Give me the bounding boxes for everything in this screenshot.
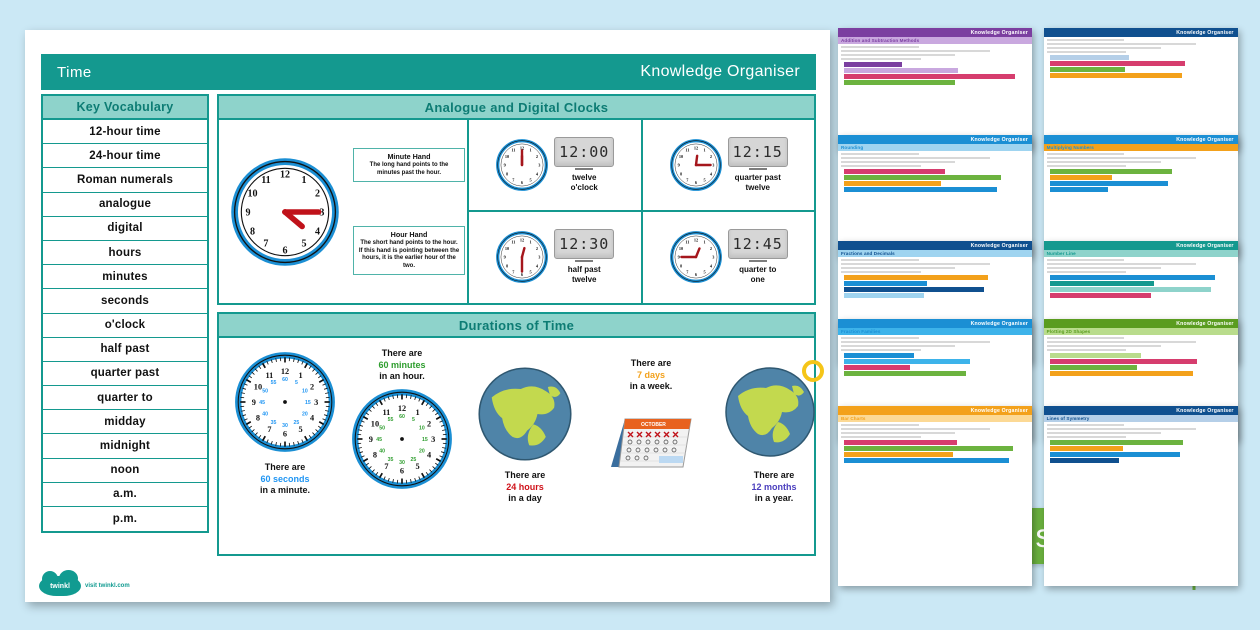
svg-text:25: 25: [294, 420, 300, 426]
digital-label-line2: o'clock: [554, 183, 614, 193]
svg-text:35: 35: [388, 457, 394, 463]
thumbnail-graphic-bar: [844, 281, 927, 286]
svg-text:11: 11: [512, 147, 516, 152]
thumbnail-header: Knowledge Organiser: [1044, 319, 1238, 328]
thumbnail-graphic-bar: [844, 353, 914, 358]
svg-text:3: 3: [431, 435, 435, 444]
svg-text:9: 9: [677, 255, 679, 260]
thumbnail-text-line: [841, 58, 921, 60]
svg-text:2: 2: [710, 246, 712, 251]
vocab-item: seconds: [43, 289, 207, 313]
svg-text:2: 2: [427, 420, 431, 429]
thumbnail-graphic-bar: [844, 359, 970, 364]
svg-text:12: 12: [694, 238, 698, 243]
twinkl-logo-text: twinkl: [50, 583, 70, 590]
twinkl-url: visit twinkl.com: [85, 583, 130, 589]
svg-text:11: 11: [261, 174, 271, 185]
thumbnail-graphic-bar: [1050, 458, 1120, 463]
vocab-item: midnight: [43, 434, 207, 458]
digital-time: 12:15: [728, 137, 788, 167]
fact-seconds-post: in a minute.: [233, 485, 337, 497]
thumbnail-subtitle: Lines of Symmetry: [1044, 415, 1238, 422]
thumbnail-graphic-bar: [1050, 353, 1141, 358]
svg-text:9: 9: [369, 435, 373, 444]
svg-text:7: 7: [267, 425, 271, 434]
thumbnail-text-line: [841, 263, 990, 265]
vocab-item: analogue: [43, 193, 207, 217]
thumbnail-text-line: [1047, 47, 1161, 49]
svg-text:20: 20: [302, 412, 308, 418]
thumbnail-text-line: [841, 50, 990, 52]
fact-hours-caption: There are 24 hours in a day: [469, 470, 581, 505]
thumbnail-graphic-bar: [844, 62, 902, 67]
fact-months-caption: There are 12 months in a year.: [715, 470, 833, 505]
svg-text:5: 5: [299, 425, 303, 434]
thumbnail-header: Knowledge Organiser: [1044, 406, 1238, 415]
thumbnail-text-line: [1047, 263, 1196, 265]
vocab-item: p.m.: [43, 507, 207, 531]
svg-text:50: 50: [379, 426, 385, 432]
thumbnail-text-line: [1047, 39, 1125, 41]
svg-text:10: 10: [254, 383, 262, 392]
svg-text:OCTOBER: OCTOBER: [641, 422, 666, 428]
clock-face-icon: 121234567891011: [669, 138, 723, 192]
thumbnail-text-line: [1047, 51, 1127, 53]
svg-text:12: 12: [280, 169, 290, 180]
thumbnail-text-line: [1047, 259, 1125, 261]
thumbnail-graphic-bar: [844, 74, 1015, 79]
svg-text:40: 40: [379, 449, 385, 455]
svg-text:60: 60: [282, 377, 288, 383]
thumbnail-graphic-bar: [1050, 67, 1126, 72]
thumbnail-subtitle: Addition and Subtraction Methods: [838, 37, 1032, 44]
thumbnail-page[interactable]: Knowledge Organiser: [1044, 28, 1238, 149]
svg-text:9: 9: [677, 162, 679, 167]
thumbnail-graphic-bar: [1050, 359, 1197, 364]
svg-text:35: 35: [271, 420, 277, 426]
thumbnail-graphic-bar: [844, 293, 924, 298]
digital-clock: 12:00twelveo'clock: [554, 137, 614, 193]
key-vocabulary-panel: Key Vocabulary 12-hour time24-hour timeR…: [41, 94, 209, 564]
vocab-item: o'clock: [43, 314, 207, 338]
thumbnail-text-line: [841, 153, 919, 155]
svg-text:6: 6: [282, 245, 287, 256]
thumbnail-text-line: [1047, 43, 1196, 45]
svg-text:4: 4: [315, 226, 320, 237]
thumbnail-text-line: [1047, 267, 1161, 269]
clock-example: 12123456789101112:45quarter toone: [641, 212, 815, 304]
fact-days-caption: There are 7 days in a week.: [591, 358, 711, 393]
analogue-digital-section: Analogue and Digital Clocks 1212 345 678…: [217, 94, 816, 305]
organiser-sheet: Time Knowledge Organiser Key Vocabulary …: [41, 54, 816, 564]
svg-text:30: 30: [282, 423, 288, 429]
thumbnail-header: Knowledge Organiser: [1044, 28, 1238, 37]
thumbnail-graphic-bar: [1050, 61, 1186, 66]
thumbnail-text-line: [841, 271, 921, 273]
fact-hours-pre: There are: [469, 470, 581, 482]
svg-text:12: 12: [398, 404, 406, 413]
thumbnail-graphic-bar: [1050, 187, 1108, 192]
thumbnail-text-line: [1047, 424, 1125, 426]
minute-hand-title: Minute Hand: [358, 152, 460, 161]
fact-months-pre: There are: [715, 470, 833, 482]
main-knowledge-organiser-page[interactable]: Time Knowledge Organiser Key Vocabulary …: [25, 30, 830, 602]
fact-minutes: There are 60 minutes in an hour. 1212345…: [347, 348, 457, 496]
calendar-icon: OCTOBER: [603, 399, 699, 471]
thumbnail-text-line: [1047, 271, 1127, 273]
svg-text:1: 1: [530, 240, 532, 245]
globe-sun-icon: [720, 358, 828, 466]
svg-text:40: 40: [262, 412, 268, 418]
digital-label-line1: quarter to: [728, 265, 788, 275]
digital-clock: 12:30half pasttwelve: [554, 229, 614, 285]
fact-seconds-pre: There are: [233, 462, 337, 474]
svg-text:11: 11: [512, 240, 516, 245]
clock-face-icon: 121234567891011: [669, 230, 723, 284]
digital-time: 12:00: [554, 137, 614, 167]
digital-clock: 12:15quarter pasttwelve: [728, 137, 788, 193]
svg-text:12: 12: [694, 145, 698, 150]
clock-seconds-icon: 121234567891011 51015202530354045505560: [233, 350, 337, 454]
fact-days: There are 7 days in a week. OCTOBER: [591, 358, 711, 471]
svg-text:5: 5: [530, 270, 532, 275]
thumbnail-graphic-bar: [844, 175, 1001, 180]
fact-seconds-value: 60 seconds: [233, 474, 337, 486]
thumbnail-subtitle: Number Line: [1044, 250, 1238, 257]
svg-text:10: 10: [505, 154, 509, 159]
thumbnail-text-line: [1047, 345, 1161, 347]
thumbnail-page[interactable]: Knowledge OrganiserBar Charts: [838, 406, 1032, 585]
digital-clock-stand: [575, 168, 593, 170]
thumbnail-text-line: [841, 428, 990, 430]
thumbnail-graphic-bar: [844, 287, 984, 292]
fact-hours: There are 24 hours in a day: [469, 362, 581, 505]
clock-face-icon: 121234567891011: [495, 138, 549, 192]
thumbnail-text-line: [1047, 436, 1127, 438]
thumbnail-text-line: [1047, 349, 1127, 351]
fact-seconds: 121234567891011 51015202530354045505560 …: [233, 350, 337, 497]
svg-text:6: 6: [400, 466, 404, 475]
svg-text:5: 5: [530, 177, 532, 182]
digital-label-line2: one: [728, 275, 788, 285]
svg-text:1: 1: [703, 240, 705, 245]
svg-text:15: 15: [305, 400, 311, 406]
svg-text:11: 11: [685, 240, 689, 245]
thumbnail-text-line: [841, 54, 955, 56]
digital-clock-stand: [575, 260, 593, 262]
clock-example: 12123456789101112:30half pasttwelve: [467, 212, 641, 304]
hour-hand-body: The short hand points to the hour. If th…: [358, 240, 460, 271]
svg-text:7: 7: [263, 238, 268, 249]
thumbnail-text-line: [1047, 153, 1125, 155]
thumbnail-page[interactable]: Knowledge OrganiserRounding: [838, 135, 1032, 256]
svg-text:2: 2: [315, 188, 320, 199]
fact-seconds-caption: There are 60 seconds in a minute.: [233, 462, 337, 497]
fact-minutes-value: 60 minutes: [347, 360, 457, 372]
thumbnail-graphic-bar: [844, 458, 1009, 463]
svg-text:25: 25: [411, 457, 417, 463]
fact-months-post: in a year.: [715, 493, 833, 505]
thumbnail-header: Knowledge Organiser: [838, 135, 1032, 144]
fact-months-value: 12 months: [715, 482, 833, 494]
thumbnail-page[interactable]: Knowledge OrganiserMultiplying Numbers: [1044, 135, 1238, 256]
page-title: Time: [57, 64, 92, 81]
svg-text:5: 5: [295, 380, 298, 386]
svg-text:2: 2: [710, 154, 712, 159]
analogue-digital-heading: Analogue and Digital Clocks: [217, 94, 816, 120]
clock-face-icon: 1212 345 678 91011: [229, 156, 341, 268]
svg-text:10: 10: [371, 420, 379, 429]
fact-months: There are 12 months in a year.: [715, 358, 833, 505]
svg-text:1: 1: [302, 174, 307, 185]
thumbnail-text-line: [1047, 432, 1161, 434]
thumbnail-graphic-bar: [844, 452, 953, 457]
thumbnail-subtitle: Rounding: [838, 144, 1032, 151]
fact-days-pre: There are: [591, 358, 711, 370]
digital-label-line1: twelve: [554, 173, 614, 183]
digital-clock-stand: [749, 260, 767, 262]
thumbnail-subtitle: Multiplying Numbers: [1044, 144, 1238, 151]
svg-text:10: 10: [302, 389, 308, 395]
vocab-item: a.m.: [43, 483, 207, 507]
svg-text:10: 10: [419, 426, 425, 432]
svg-text:20: 20: [419, 449, 425, 455]
thumbnail-graphic-bar: [844, 275, 988, 280]
thumbnail-graphic-bar: [1050, 169, 1172, 174]
svg-text:10: 10: [679, 154, 683, 159]
thumbnail-graphic-bar: [844, 371, 966, 376]
svg-text:8: 8: [250, 226, 255, 237]
digital-time: 12:30: [554, 229, 614, 259]
thumbnail-text-line: [1047, 341, 1196, 343]
thumbnail-graphic-bar: [844, 440, 957, 445]
svg-text:4: 4: [310, 414, 314, 423]
svg-text:60: 60: [399, 414, 405, 420]
hour-hand-callout: Hour Hand The short hand points to the h…: [353, 226, 465, 275]
vocab-item: 24-hour time: [43, 144, 207, 168]
thumbnail-text-line: [841, 345, 955, 347]
svg-text:10: 10: [679, 246, 683, 251]
page-topbar: Time Knowledge Organiser: [41, 54, 816, 90]
digital-clock: 12:45quarter toone: [728, 229, 788, 285]
thumbnail-text-line: [841, 259, 919, 261]
digital-label-line2: twelve: [554, 275, 614, 285]
thumbnail-text-line: [841, 337, 919, 339]
fact-hours-value: 24 hours: [469, 482, 581, 494]
thumbnail-graphic-bar: [1050, 287, 1211, 292]
svg-text:3: 3: [314, 398, 318, 407]
minute-hand-body: The long hand points to the minutes past…: [358, 162, 460, 177]
thumbnail-text-line: [841, 341, 990, 343]
thumbnail-text-line: [841, 424, 919, 426]
thumbnail-text-line: [841, 161, 955, 163]
svg-text:11: 11: [685, 147, 689, 152]
svg-text:9: 9: [504, 162, 506, 167]
thumbnail-graphic-bar: [1050, 281, 1155, 286]
svg-text:2: 2: [536, 246, 538, 251]
thumbnail-graphic-bar: [844, 169, 945, 174]
thumbnail-graphic-bar: [1050, 181, 1168, 186]
svg-text:9: 9: [246, 207, 251, 218]
key-vocabulary-heading: Key Vocabulary: [41, 94, 209, 120]
svg-text:11: 11: [265, 371, 273, 380]
thumbnail-graphic-bar: [844, 365, 910, 370]
twinkl-logo[interactable]: twinkl visit twinkl.com: [39, 576, 130, 596]
fact-minutes-pre: There are: [347, 348, 457, 360]
fact-days-post: in a week.: [591, 381, 711, 393]
thumbnail-graphic-bar: [1050, 55, 1130, 60]
fact-minutes-caption: There are 60 minutes in an hour.: [347, 348, 457, 383]
svg-text:11: 11: [382, 408, 390, 417]
thumbnail-graphic-bar: [844, 187, 997, 192]
vocab-item: midday: [43, 410, 207, 434]
svg-text:6: 6: [283, 429, 287, 438]
svg-text:9: 9: [252, 398, 256, 407]
svg-text:1: 1: [530, 147, 532, 152]
thumbnail-header: Knowledge Organiser: [838, 406, 1032, 415]
svg-text:15: 15: [422, 437, 428, 443]
fact-minutes-post: in an hour.: [347, 371, 457, 383]
thumbnail-header: Knowledge Organiser: [838, 319, 1032, 328]
clock-face-icon: 121234567891011: [495, 230, 549, 284]
digital-label-line2: twelve: [728, 183, 788, 193]
vocab-item: quarter to: [43, 386, 207, 410]
clock-examples-grid: 12123456789101112:00twelveo'clock1212345…: [467, 120, 814, 303]
clock-minutes-icon: 121234567891011 51015202530354045505560: [350, 387, 454, 491]
thumbnail-header: Knowledge Organiser: [838, 241, 1032, 250]
thumbnail-subtitle: Plotting 2D Shapes: [1044, 328, 1238, 335]
hand-callouts: Minute Hand The long hand points to the …: [351, 120, 467, 303]
svg-text:2: 2: [536, 154, 538, 159]
vocab-item: quarter past: [43, 362, 207, 386]
page-subtitle: Knowledge Organiser: [640, 63, 800, 81]
svg-text:45: 45: [376, 437, 382, 443]
thumbnail-header: Knowledge Organiser: [1044, 135, 1238, 144]
thumbnail-graphic-bar: [844, 181, 941, 186]
hour-hand-title: Hour Hand: [358, 230, 460, 239]
durations-heading: Durations of Time: [217, 312, 816, 338]
svg-text:4: 4: [427, 451, 431, 460]
fact-hours-post: in a day: [469, 493, 581, 505]
svg-text:1: 1: [416, 408, 420, 417]
vocab-item: hours: [43, 241, 207, 265]
vocab-item: minutes: [43, 265, 207, 289]
durations-section: Durations of Time 121234567891011 510152…: [217, 312, 816, 556]
organiser-content: Analogue and Digital Clocks 1212 345 678…: [217, 94, 816, 564]
svg-text:55: 55: [388, 417, 394, 423]
digital-time: 12:45: [728, 229, 788, 259]
thumbnail-graphic-bar: [844, 80, 955, 85]
digital-label-line1: half past: [554, 265, 614, 275]
thumbnail-text-line: [1047, 157, 1196, 159]
svg-text:8: 8: [256, 414, 260, 423]
digital-label-line1: quarter past: [728, 173, 788, 183]
thumbnail-subtitle: Fraction Families: [838, 328, 1032, 335]
svg-text:1: 1: [703, 147, 705, 152]
twinkl-cloud-icon: twinkl: [39, 576, 81, 596]
svg-text:1: 1: [299, 371, 303, 380]
digital-clock-stand: [749, 168, 767, 170]
svg-text:5: 5: [412, 417, 415, 423]
svg-text:9: 9: [504, 255, 506, 260]
thumbnail-page[interactable]: Knowledge OrganiserAddition and Subtract…: [838, 28, 1032, 149]
svg-text:5: 5: [302, 238, 307, 249]
svg-text:5: 5: [703, 177, 705, 182]
thumbnail-header: Knowledge Organiser: [1044, 241, 1238, 250]
thumbnail-text-line: [841, 46, 919, 48]
thumbnail-graphic-bar: [1050, 440, 1184, 445]
thumbnail-graphic-bar: [1050, 293, 1151, 298]
vocab-item: 12-hour time: [43, 120, 207, 144]
thumbnail-text-line: [841, 157, 990, 159]
globe-icon: [473, 362, 577, 466]
thumbnail-graphic-bar: [1050, 365, 1137, 370]
thumbnail-text-line: [841, 349, 921, 351]
vocab-item: digital: [43, 217, 207, 241]
thumbnail-text-line: [1047, 165, 1127, 167]
svg-text:10: 10: [247, 188, 257, 199]
svg-text:30: 30: [399, 460, 405, 466]
thumbnail-text-line: [1047, 161, 1161, 163]
thumbnail-graphic-bar: [1050, 175, 1112, 180]
thumbnail-stack[interactable]: Knowledge OrganiserAddition and Subtract…: [838, 28, 1260, 600]
svg-text:8: 8: [373, 451, 377, 460]
thumbnail-graphic-bar: [1050, 275, 1215, 280]
svg-text:5: 5: [703, 270, 705, 275]
minute-hand-callout: Minute Hand The long hand points to the …: [353, 148, 465, 181]
thumbnail-text-line: [841, 432, 955, 434]
svg-text:55: 55: [271, 380, 277, 386]
svg-text:50: 50: [262, 389, 268, 395]
thumbnail-graphic-bar: [1050, 446, 1124, 451]
svg-text:12: 12: [520, 238, 524, 243]
svg-text:5: 5: [416, 462, 420, 471]
main-analogue-clock: 1212 345 678 91011: [219, 120, 351, 303]
vocab-item: half past: [43, 338, 207, 362]
svg-text:10: 10: [505, 246, 509, 251]
thumbnail-text-line: [841, 267, 955, 269]
vocab-item: Roman numerals: [43, 168, 207, 192]
clock-example: 12123456789101112:00twelveo'clock: [467, 120, 641, 212]
clock-example: 12123456789101112:15quarter pasttwelve: [641, 120, 815, 212]
fact-days-value: 7 days: [591, 370, 711, 382]
svg-text:45: 45: [259, 400, 265, 406]
thumbnail-graphic-bar: [844, 68, 958, 73]
thumbnail-subtitle: Bar Charts: [838, 415, 1032, 422]
svg-text:12: 12: [281, 367, 289, 376]
thumbnail-text-line: [1047, 337, 1125, 339]
thumbnail-text-line: [841, 165, 921, 167]
vocab-item: noon: [43, 459, 207, 483]
thumbnail-text-line: [1047, 428, 1196, 430]
thumbnail-text-line: [841, 436, 921, 438]
svg-text:2: 2: [310, 383, 314, 392]
thumbnail-page[interactable]: Knowledge OrganiserLines of Symmetry: [1044, 406, 1238, 585]
key-vocabulary-list: 12-hour time24-hour timeRoman numeralsan…: [41, 120, 209, 533]
thumbnail-header: Knowledge Organiser: [838, 28, 1032, 37]
thumbnail-graphic-bar: [1050, 73, 1182, 78]
thumbnail-graphic-bar: [844, 446, 1013, 451]
thumbnail-graphic-bar: [1050, 371, 1194, 376]
thumbnail-graphic-bar: [1050, 452, 1180, 457]
thumbnail-subtitle: Fractions and Decimals: [838, 250, 1032, 257]
svg-text:7: 7: [384, 462, 388, 471]
